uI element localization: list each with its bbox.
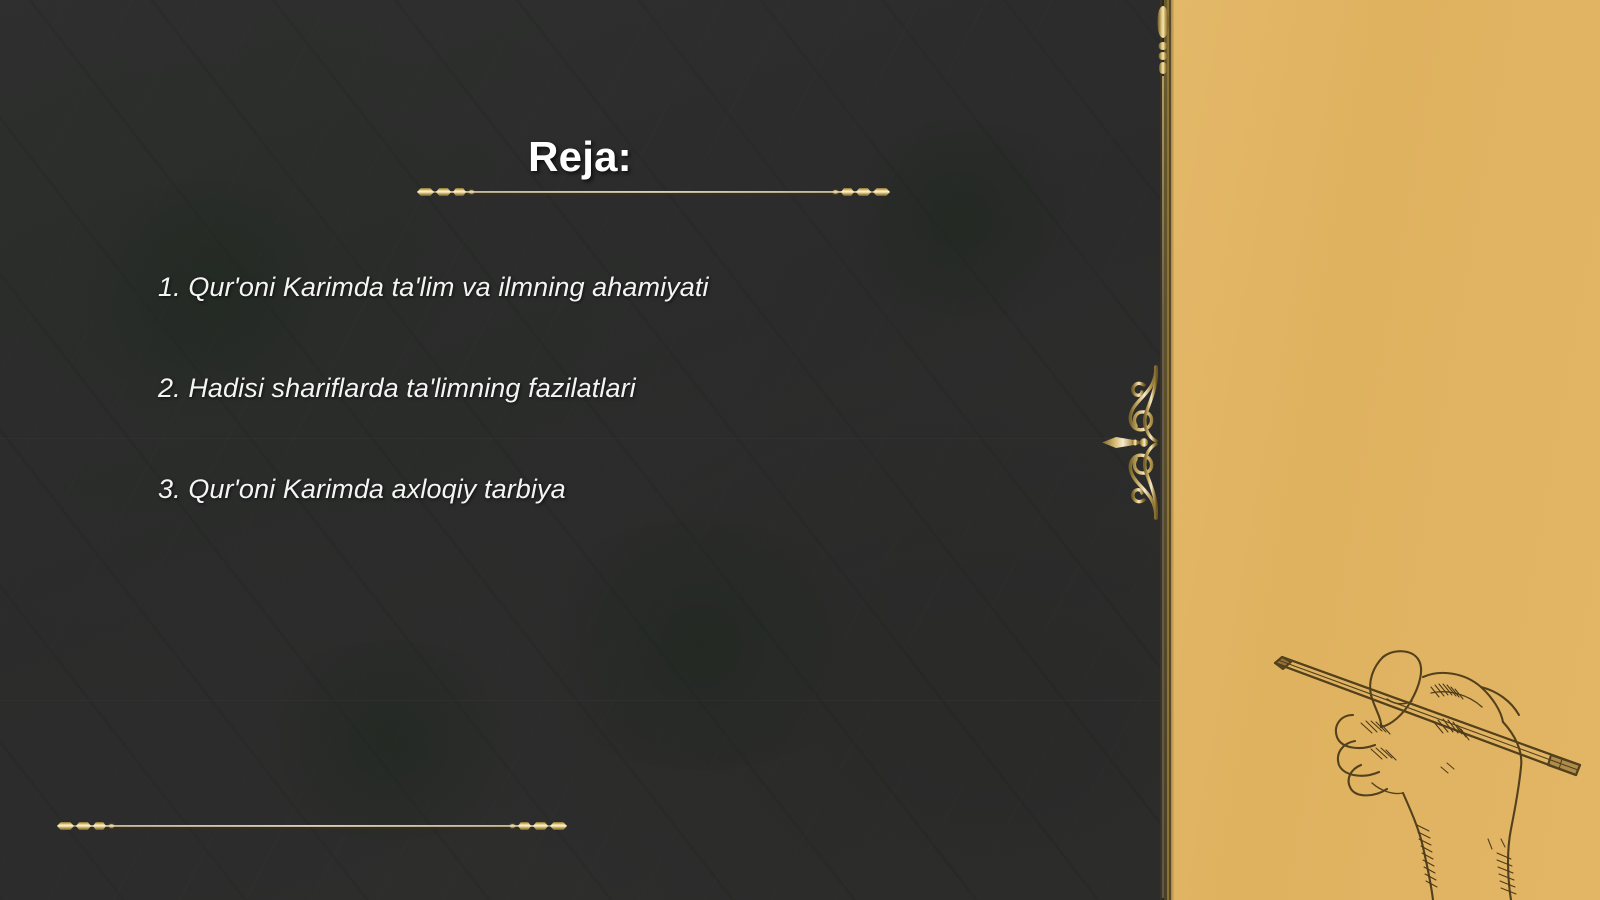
agenda-item: 1. Qur'oni Karimda ta'lim va ilmning aha… [158, 272, 1098, 303]
presentation-slide: Reja: 1. Qur'oni Karimda ta'lim va ilmni… [0, 0, 1600, 900]
background-blotch [520, 520, 880, 770]
divider-rule-shadow [57, 827, 567, 829]
agenda-list: 1. Qur'oni Karimda ta'lim va ilmning aha… [158, 272, 1098, 505]
background-blotch [240, 640, 540, 840]
slide-title: Reja: [0, 133, 1160, 181]
divider-rule-shadow [417, 193, 890, 195]
title-divider-ornament [417, 184, 890, 200]
footer-divider-ornament [57, 818, 567, 834]
gold-accent-panel [1172, 0, 1600, 900]
slide-title-text: Reja: [528, 133, 632, 181]
agenda-item: 2. Hadisi shariflarda ta'limning fazilat… [158, 373, 1098, 404]
divider-bead [109, 824, 114, 828]
divider-bead [833, 190, 838, 194]
agenda-item: 3. Qur'oni Karimda axloqiy tarbiya [158, 474, 1098, 505]
divider-bead [510, 824, 515, 828]
divider-bead [469, 190, 474, 194]
background-band [0, 700, 1160, 701]
